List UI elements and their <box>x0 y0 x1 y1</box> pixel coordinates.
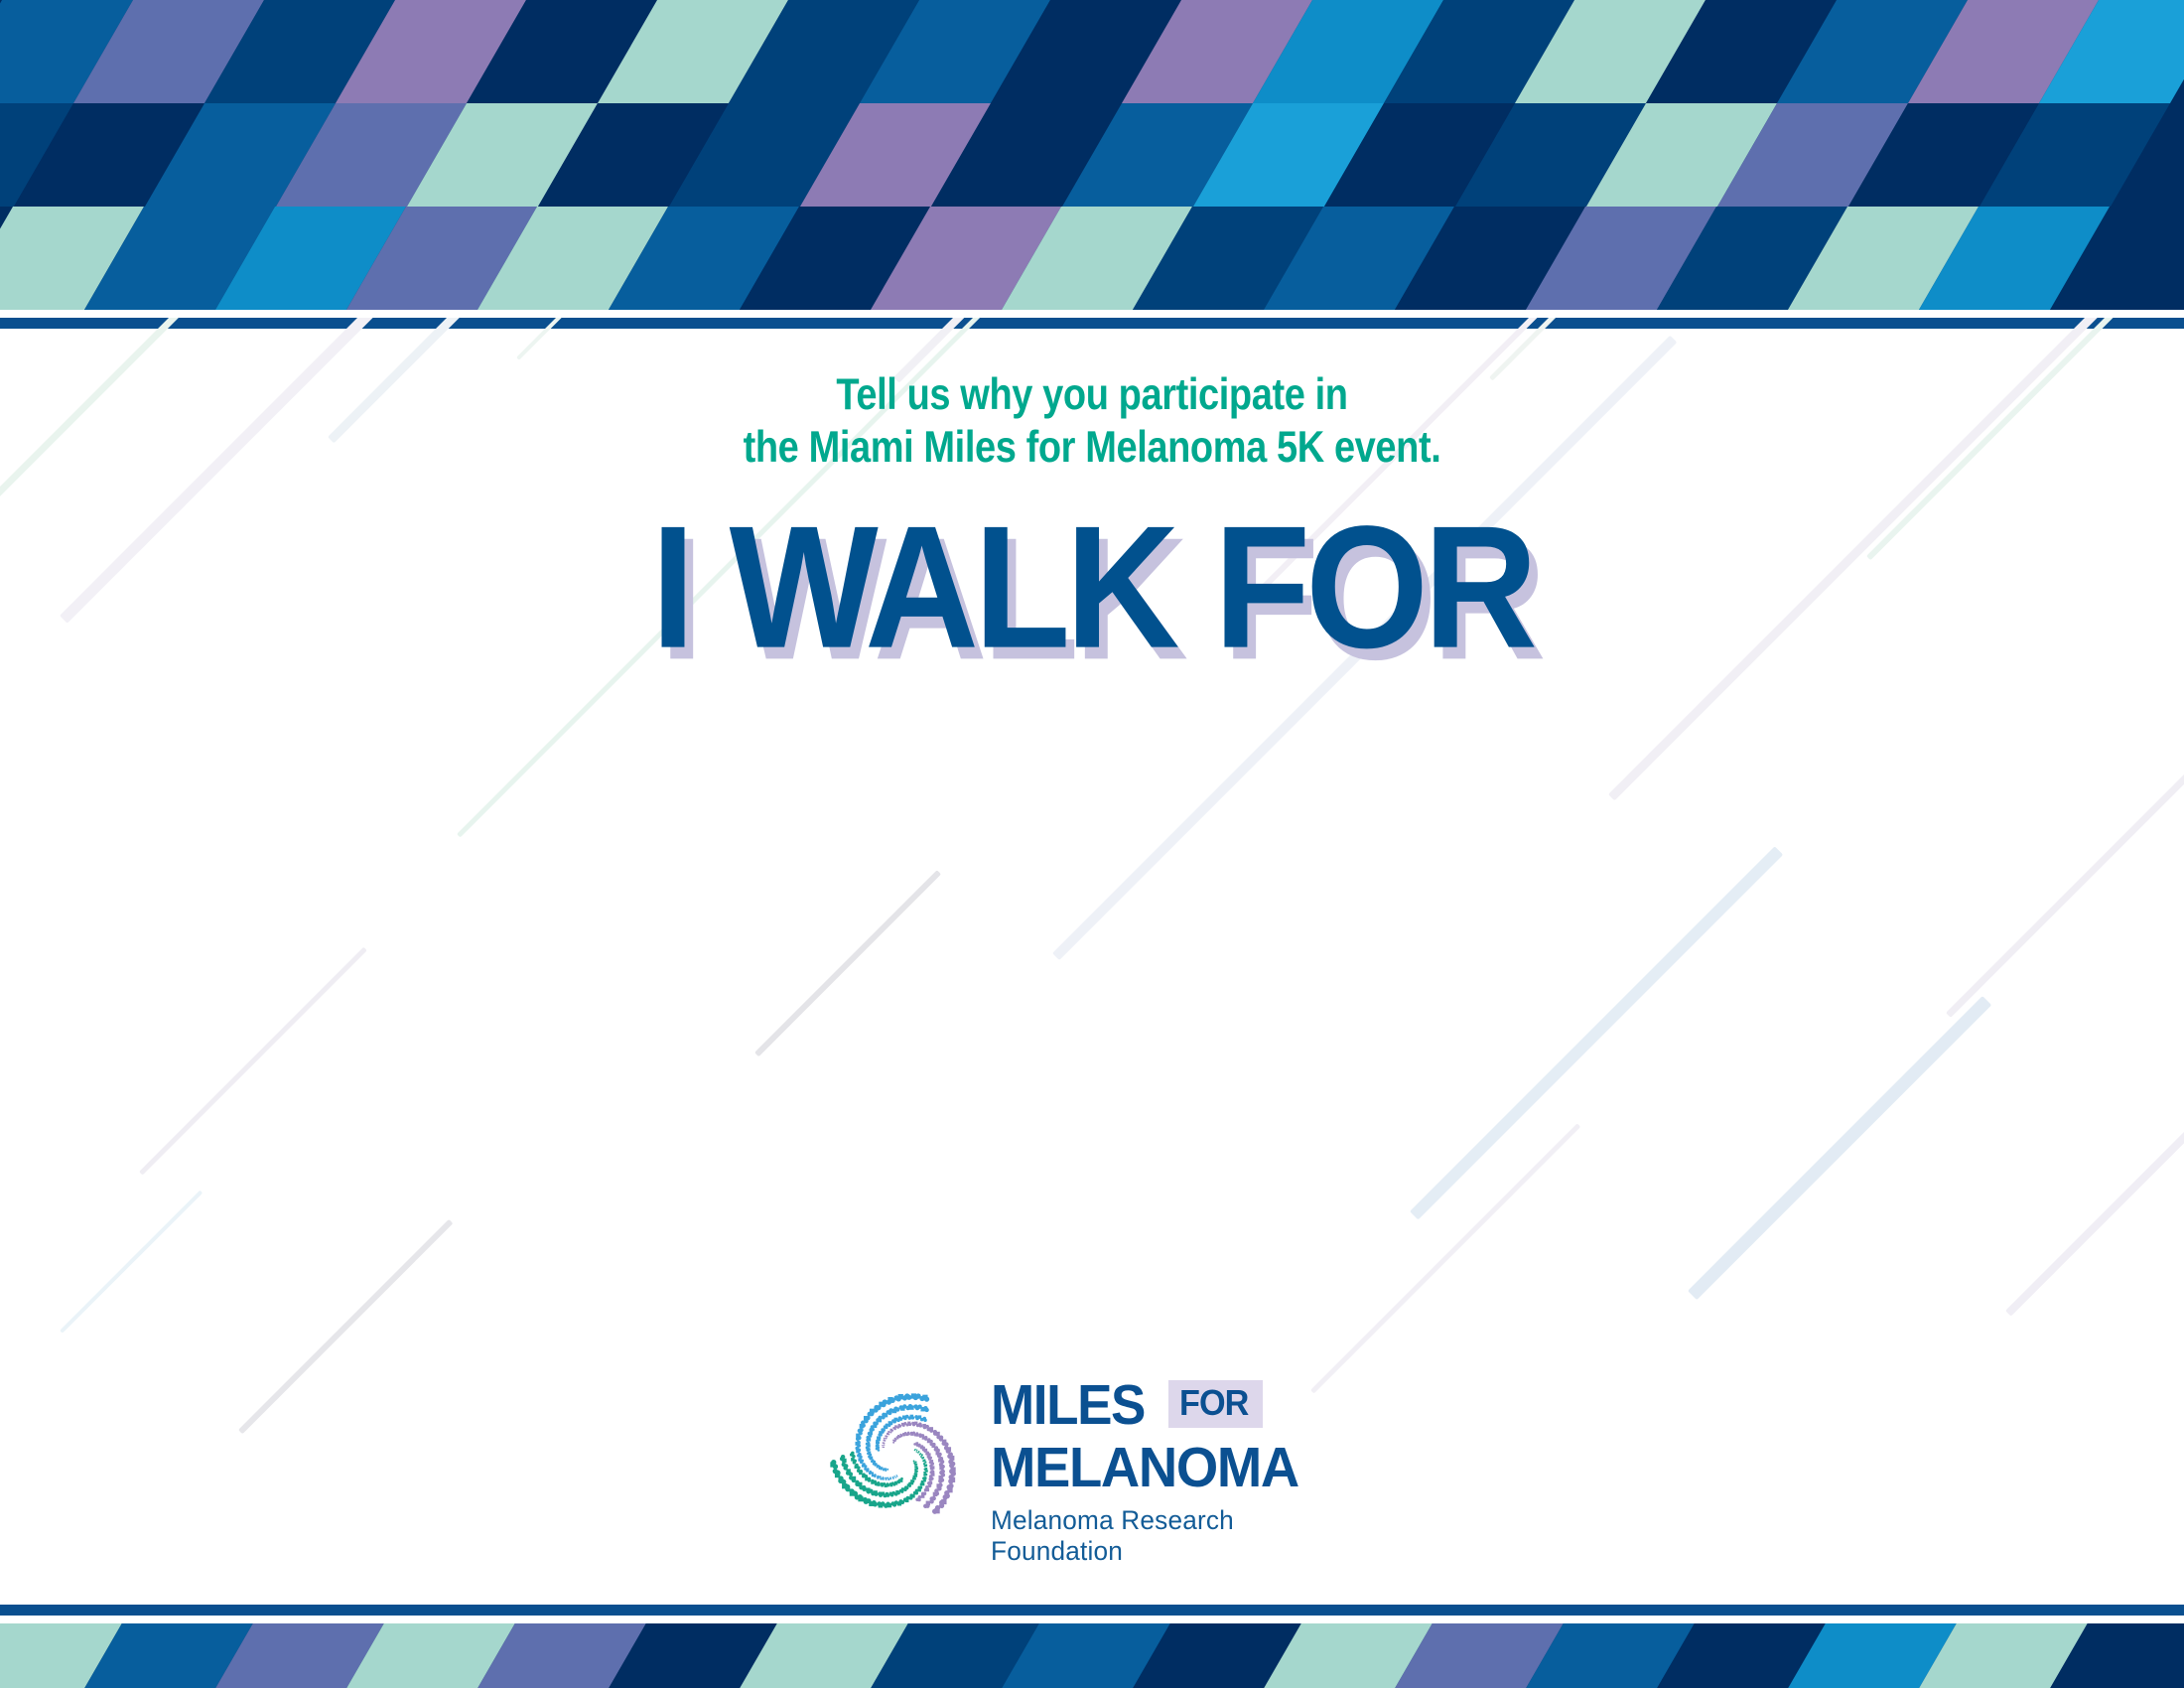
dot-swirl-icon <box>824 1380 973 1529</box>
logo-dot <box>868 1451 871 1454</box>
logo-dot <box>872 1459 875 1462</box>
logo-tagline: Melanoma Research Foundation <box>991 1505 1349 1567</box>
logo-dot <box>877 1465 879 1467</box>
logo-dot <box>917 1452 919 1454</box>
logo-dot <box>893 1476 895 1477</box>
logo-dot <box>912 1477 915 1480</box>
logo-dot <box>924 1397 929 1402</box>
logo-dot <box>916 1451 918 1453</box>
logo-dot <box>884 1447 885 1448</box>
logo-dot <box>871 1479 874 1482</box>
miles-for-melanoma-logo: MILES FOR MELANOMA Melanoma Research Fou… <box>824 1378 1360 1557</box>
hairline <box>60 1191 203 1334</box>
logo-dot <box>924 1408 928 1412</box>
logo-dot <box>913 1460 915 1462</box>
logo-dot <box>884 1443 886 1445</box>
logo-dot <box>883 1468 885 1470</box>
logo-dot <box>929 1477 933 1481</box>
logo-dot <box>857 1469 861 1473</box>
logo-dot <box>900 1435 902 1437</box>
logo-dot <box>881 1482 884 1485</box>
logo-dot <box>885 1477 887 1479</box>
logo-dot <box>877 1476 879 1477</box>
bottom-rule-line <box>0 1605 2184 1616</box>
logo-dot <box>922 1460 924 1462</box>
logo-dot <box>920 1482 923 1485</box>
logo-dot <box>857 1441 861 1445</box>
logo-dot <box>887 1469 888 1471</box>
logo-dot <box>879 1476 881 1477</box>
subheadline: Tell us why you participate in the Miami… <box>496 369 1688 475</box>
logo-dot <box>919 1424 923 1428</box>
logo-dot <box>883 1429 886 1432</box>
headline-block: Tell us why you participate in the Miami… <box>0 369 2184 649</box>
logo-dot <box>886 1436 887 1438</box>
logo-dot <box>881 1467 883 1469</box>
logo-dot <box>918 1488 921 1491</box>
logo-dot <box>884 1438 886 1440</box>
diagonal-stripe-banner-top <box>0 0 2184 310</box>
main-headline: I WALK FOR I WALK FOR <box>0 500 2184 649</box>
logo-dot <box>896 1437 898 1439</box>
logo-dot <box>911 1416 915 1420</box>
logo-dot <box>892 1477 894 1478</box>
logo-dot <box>878 1436 881 1439</box>
logo-dot <box>929 1429 933 1433</box>
logo-dot <box>891 1429 893 1431</box>
logo-dot <box>943 1494 948 1499</box>
logo-dot <box>923 1504 927 1508</box>
logo-dot <box>882 1477 884 1478</box>
logo-dot <box>862 1473 866 1477</box>
logo-dot <box>889 1477 891 1478</box>
logo-dot <box>841 1455 845 1459</box>
logo-dot <box>939 1466 943 1470</box>
logo-dot <box>924 1465 926 1467</box>
logo-dot <box>923 1419 927 1423</box>
logo-dot <box>924 1488 928 1492</box>
logo-dot <box>882 1445 883 1446</box>
logo-dot <box>907 1483 910 1486</box>
poster-canvas: Tell us why you participate in the Miami… <box>0 0 2184 1688</box>
logo-dot <box>916 1450 917 1451</box>
logo-dot <box>920 1456 922 1458</box>
logo-dot <box>884 1444 886 1446</box>
logo-wordmark: MILES FOR MELANOMA Melanoma Research Fou… <box>991 1378 1360 1567</box>
logo-dot <box>887 1478 889 1480</box>
logo-dot <box>885 1440 887 1442</box>
logo-dot <box>921 1454 923 1456</box>
logo-dot <box>878 1491 882 1495</box>
logo-dot <box>895 1477 896 1477</box>
logo-dot <box>948 1478 953 1483</box>
logo-dot <box>914 1450 915 1451</box>
hairline <box>1410 846 1783 1219</box>
logo-dot <box>915 1498 919 1502</box>
logo-dot <box>917 1445 920 1448</box>
logo-row-miles-for: MILES FOR <box>991 1378 1360 1434</box>
logo-dot <box>867 1442 870 1445</box>
logo-dot <box>921 1458 923 1460</box>
logo-dot <box>886 1438 887 1440</box>
logo-dot <box>883 1447 884 1448</box>
logo-dot <box>880 1477 882 1479</box>
logo-dot <box>831 1460 836 1465</box>
logo-dot <box>842 1463 846 1467</box>
logo-dot <box>887 1433 889 1435</box>
logo-word-for: FOR <box>1179 1385 1248 1421</box>
logo-dot <box>867 1468 870 1471</box>
logo-dot <box>906 1395 911 1400</box>
hairline <box>1688 996 1991 1300</box>
logo-dot <box>872 1475 875 1477</box>
subheadline-line-2: the Miami Miles for Melanoma 5K event. <box>496 422 1688 475</box>
logo-dot <box>855 1464 859 1468</box>
logo-dot <box>930 1467 933 1470</box>
logo-dot <box>938 1478 942 1482</box>
logo-dot <box>859 1428 863 1432</box>
logo-dot <box>919 1454 921 1456</box>
logo-dot <box>887 1477 888 1478</box>
hairline <box>238 1219 453 1434</box>
logo-dot <box>908 1423 911 1426</box>
logo-dot <box>923 1474 926 1477</box>
logo-dot <box>869 1471 872 1474</box>
logo-dot <box>921 1494 925 1498</box>
hairline <box>1310 1123 1580 1393</box>
hairline <box>754 870 941 1056</box>
top-rule-line <box>0 318 2184 329</box>
logo-word-miles: MILES <box>991 1378 1145 1432</box>
logo-dot <box>907 1433 910 1436</box>
diagonal-stripe-banner-bottom <box>0 1623 2184 1688</box>
subheadline-line-1: Tell us why you participate in <box>836 370 1347 420</box>
logo-dot <box>833 1469 838 1474</box>
logo-dot <box>869 1432 873 1436</box>
logo-dot <box>898 1425 901 1428</box>
logo-dot <box>863 1463 866 1466</box>
logo-dot <box>893 1428 896 1431</box>
hairline <box>2005 1128 2184 1317</box>
logo-dot <box>909 1405 913 1409</box>
hairline <box>1946 718 2184 1018</box>
logo-dot <box>877 1501 882 1506</box>
logo-dot <box>889 1482 892 1485</box>
logo-for-box: FOR <box>1168 1380 1263 1428</box>
logo-dot <box>851 1458 855 1462</box>
headline-text: I WALK FOR <box>33 500 2151 674</box>
logo-dot <box>887 1431 889 1433</box>
logo-word-melanoma: MELANOMA <box>991 1440 1343 1496</box>
logo-dot <box>866 1487 870 1491</box>
logo-dot <box>923 1450 926 1453</box>
logo-dot <box>933 1492 937 1496</box>
hairline <box>139 947 367 1176</box>
logo-dot <box>874 1474 877 1477</box>
logo-dot <box>932 1509 937 1514</box>
logo-dot <box>913 1491 917 1495</box>
logo-dot <box>914 1471 916 1473</box>
logo-dot <box>916 1434 919 1437</box>
logo-dot <box>864 1468 867 1471</box>
logo-dot <box>914 1464 916 1466</box>
logo-dot <box>877 1444 880 1447</box>
logo-dot <box>896 1475 897 1476</box>
logo-dot <box>851 1452 855 1456</box>
logo-dot <box>899 1417 903 1421</box>
logo-dot <box>914 1466 916 1468</box>
